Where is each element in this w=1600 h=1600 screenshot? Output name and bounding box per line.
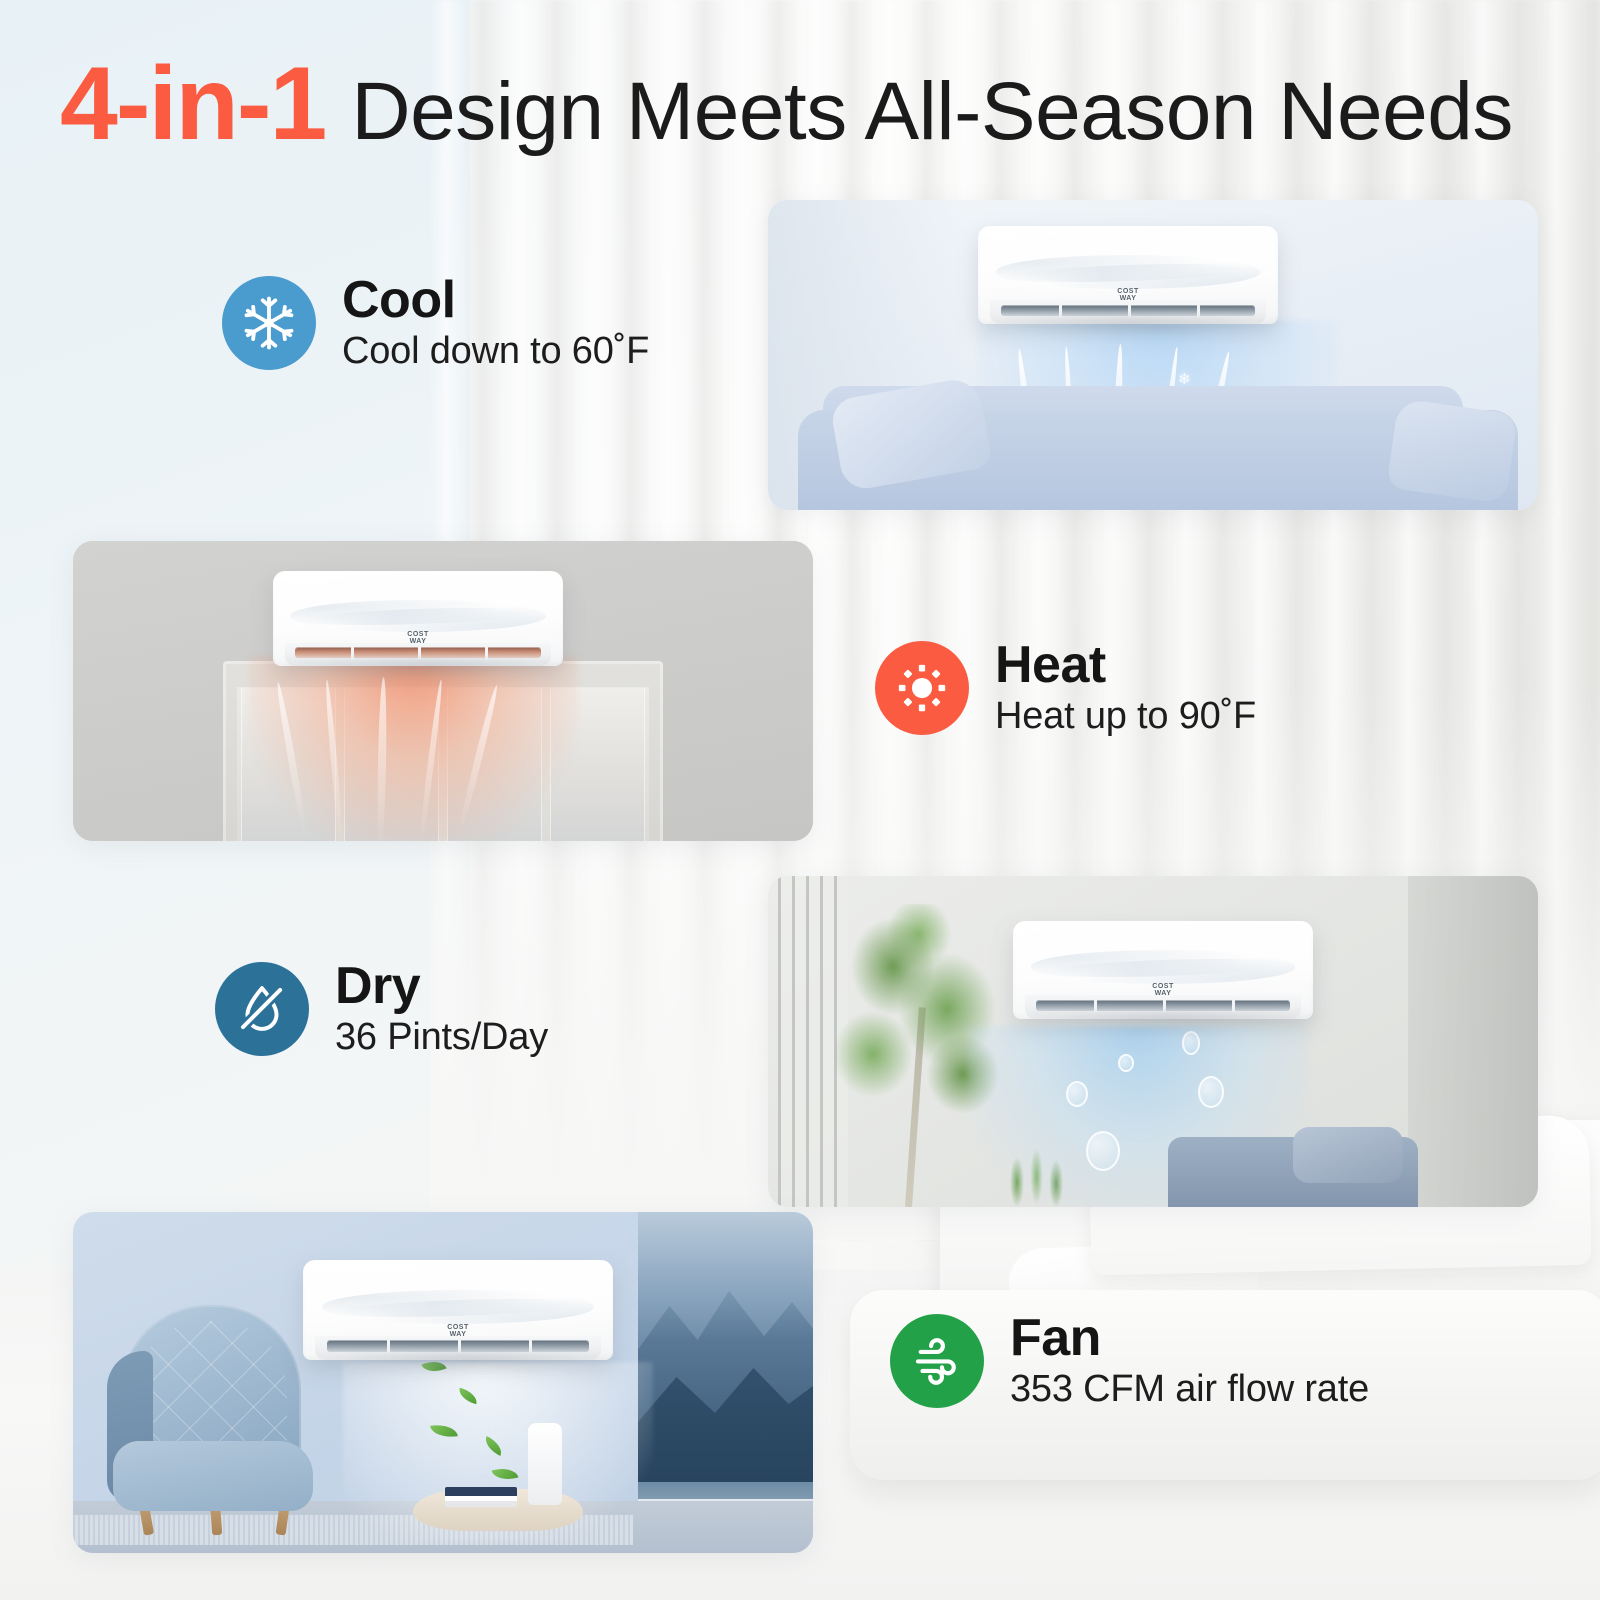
sun-icon — [875, 641, 969, 735]
ac-louver-divider — [418, 646, 421, 659]
water-droplet — [1118, 1054, 1134, 1072]
feature-title: Fan — [1010, 1310, 1369, 1366]
ac-louver-divider — [387, 1339, 390, 1353]
brand-line1: COST — [1152, 983, 1173, 990]
feature-text-dry: Dry 36 Pints/Day — [335, 958, 548, 1060]
heat-airflow — [248, 656, 578, 841]
fan-armchair-tufting — [135, 1321, 287, 1459]
brand-line1: COST — [447, 1324, 468, 1331]
water-droplet — [1066, 1081, 1088, 1107]
water-drop-slash-icon — [215, 962, 309, 1056]
dry-right-wall — [1408, 876, 1538, 1207]
feature-subtitle: 36 Pints/Day — [335, 1016, 548, 1060]
ac-louver-divider — [1094, 999, 1097, 1013]
ac-louver-divider — [351, 646, 354, 659]
feature-title: Dry — [335, 958, 548, 1014]
feature-image-cool: ❄ ❄ ❄ ❄ ❄ ❄ ❄ COST WAY — [768, 200, 1538, 510]
air-conditioner-unit: COST WAY — [303, 1260, 613, 1360]
ac-louver-divider — [1232, 999, 1235, 1013]
brand-line1: COST — [1117, 288, 1138, 295]
headline-accent: 4-in-1 — [60, 52, 325, 156]
feature-text-cool: Cool Cool down to 60˚F — [342, 272, 649, 374]
feature-subtitle: 353 CFM air flow rate — [1010, 1368, 1369, 1412]
feature-block-cool: Cool Cool down to 60˚F — [222, 272, 649, 374]
feature-block-dry: Dry 36 Pints/Day — [215, 958, 548, 1060]
ac-drop-shadow — [987, 318, 1287, 336]
feature-subtitle: Heat up to 90˚F — [995, 695, 1256, 739]
ac-louver-divider — [1163, 999, 1166, 1013]
page-title: 4-in-1 Design Meets All-Season Needs — [60, 52, 1513, 156]
feature-title: Cool — [342, 272, 649, 328]
ac-louver-divider — [1059, 304, 1062, 318]
air-conditioner-unit: COST WAY — [978, 226, 1278, 324]
snowflake-icon — [222, 276, 316, 370]
feature-image-dry: COST WAY — [768, 876, 1538, 1207]
water-droplet — [1086, 1131, 1120, 1171]
ac-drop-shadow — [282, 660, 572, 678]
feature-subtitle: Cool down to 60˚F — [342, 330, 649, 374]
feature-image-heat: COST WAY — [73, 541, 813, 841]
ac-drop-shadow — [312, 1354, 622, 1372]
fan-armchair-seat — [113, 1441, 313, 1511]
headline-rest: Design Meets All-Season Needs — [351, 71, 1512, 153]
feature-text-heat: Heat Heat up to 90˚F — [995, 637, 1256, 739]
ac-louver-divider — [458, 1339, 461, 1353]
fan-books — [445, 1487, 517, 1507]
ac-louver-divider — [485, 646, 488, 659]
ac-louver-divider — [1197, 304, 1200, 318]
ac-drop-shadow — [1022, 1013, 1322, 1031]
air-conditioner-unit: COST WAY — [1013, 921, 1313, 1019]
dry-cushion — [1293, 1127, 1403, 1183]
air-conditioner-unit: COST WAY — [273, 571, 563, 666]
feature-title: Heat — [995, 637, 1256, 693]
ac-louver-divider — [1128, 304, 1131, 318]
water-droplet — [1182, 1031, 1200, 1055]
feature-block-fan: Fan 353 CFM air flow rate — [890, 1310, 1369, 1412]
feature-block-heat: Heat Heat up to 90˚F — [875, 637, 1256, 739]
cool-pillow — [1386, 398, 1517, 504]
water-droplet — [1198, 1076, 1224, 1108]
feature-image-fan: COST WAY — [73, 1212, 813, 1553]
feature-text-fan: Fan 353 CFM air flow rate — [1010, 1310, 1369, 1412]
wind-icon — [890, 1314, 984, 1408]
brand-line1: COST — [407, 631, 428, 638]
fan-air-purifier — [528, 1423, 562, 1505]
ac-louver-divider — [529, 1339, 532, 1353]
